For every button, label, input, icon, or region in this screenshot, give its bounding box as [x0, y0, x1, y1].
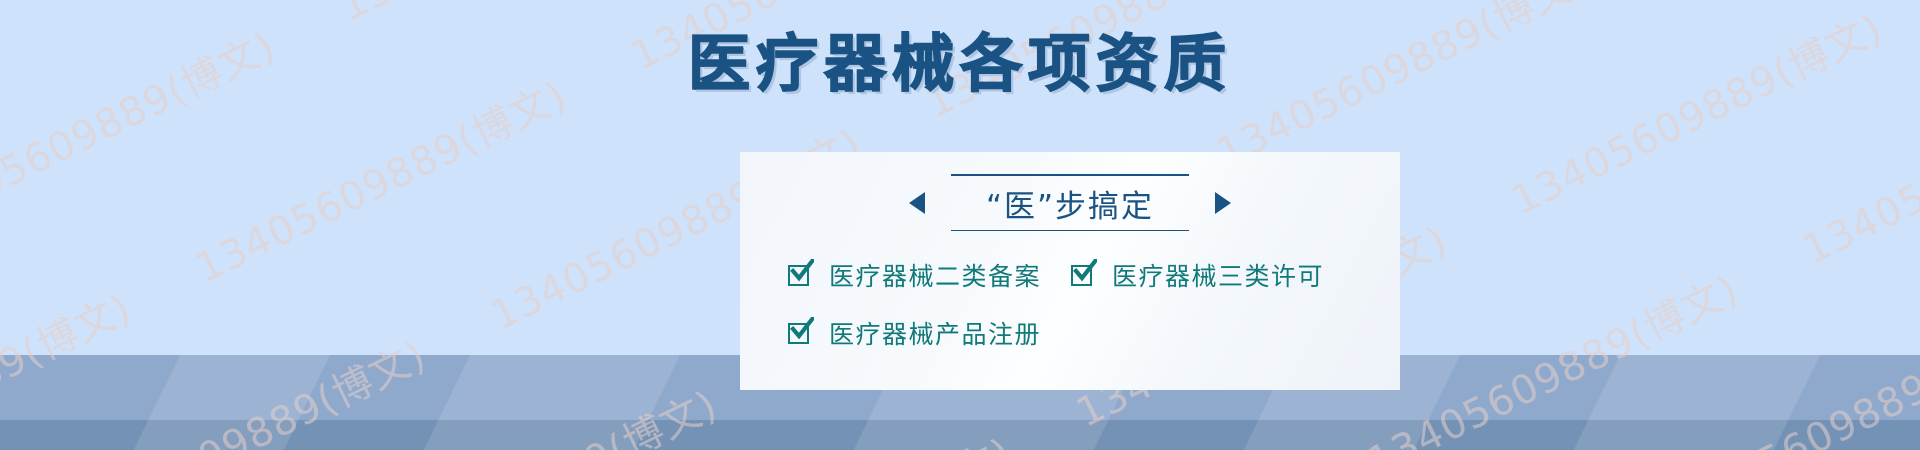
checklist-item-label: 医疗器械三类许可: [1112, 257, 1324, 293]
checkbox-checked-icon: [1071, 263, 1096, 288]
checklist-item: 医疗器械二类备案: [788, 257, 1041, 293]
checklist-item: 医疗器械三类许可: [1071, 257, 1324, 293]
watermark-text: 13405609889(博文): [333, 0, 718, 31]
subtitle-rule-bottom: [951, 230, 1189, 232]
subtitle-container: “医”步搞定: [740, 174, 1400, 231]
subtitle-text: “医”步搞定: [986, 176, 1154, 230]
checklist-item-label: 医疗器械二类备案: [829, 257, 1041, 293]
banner-canvas: 13405609889(博文)13405609889(博文)1340560988…: [0, 0, 1920, 450]
checklist-item: 医疗器械产品注册: [788, 315, 1041, 351]
checkbox-checked-icon: [788, 321, 813, 346]
subtitle-lines: “医”步搞定: [951, 174, 1189, 231]
checklist-row: 医疗器械产品注册: [764, 315, 1376, 351]
checklist-row: 医疗器械二类备案 医疗器械三类许可: [764, 257, 1376, 293]
watermark-text: 13405609889(博文): [189, 73, 574, 292]
content-card: “医”步搞定 医疗器械二类备案: [740, 152, 1400, 390]
subtitle-row: “医”步搞定: [909, 174, 1231, 231]
arrow-left-icon: [909, 192, 925, 214]
background-band-low: [0, 420, 1920, 450]
page-title-container: 医疗器械各项资质: [0, 30, 1920, 98]
page-title: 医疗器械各项资质: [688, 30, 1232, 98]
checklist-item-label: 医疗器械产品注册: [829, 315, 1041, 351]
arrow-right-icon: [1215, 192, 1231, 214]
qualification-checklist: 医疗器械二类备案 医疗器械三类许可: [740, 257, 1400, 373]
checkbox-checked-icon: [788, 263, 813, 288]
